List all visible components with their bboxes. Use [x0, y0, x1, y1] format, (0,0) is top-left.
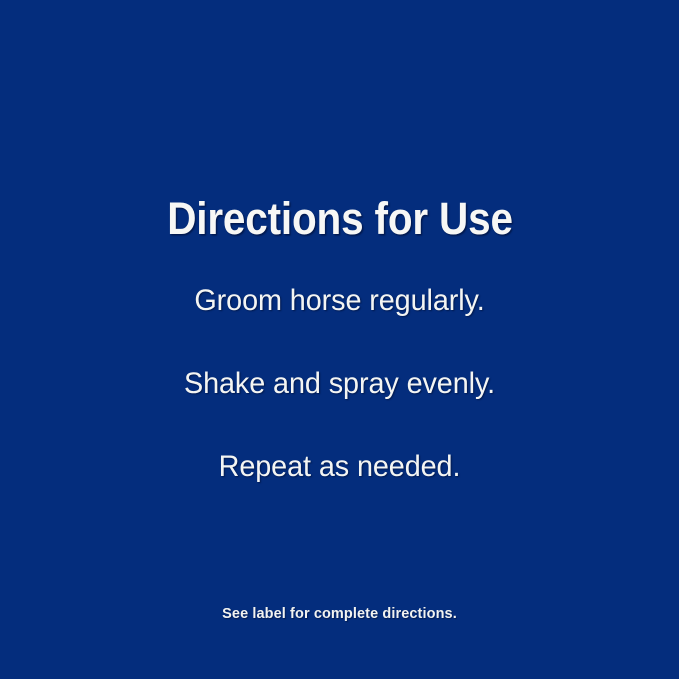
- directions-content: Directions for Use Groom horse regularly…: [0, 196, 679, 482]
- page-title: Directions for Use: [167, 196, 513, 241]
- instruction-step: Repeat as needed.: [14, 452, 666, 482]
- instruction-step-list: Groom horse regularly. Shake and spray e…: [0, 241, 679, 482]
- instruction-step: Groom horse regularly.: [14, 286, 666, 316]
- footnote-text: See label for complete directions.: [0, 607, 679, 622]
- directions-panel: Directions for Use Groom horse regularly…: [0, 0, 679, 679]
- instruction-step: Shake and spray evenly.: [14, 369, 666, 399]
